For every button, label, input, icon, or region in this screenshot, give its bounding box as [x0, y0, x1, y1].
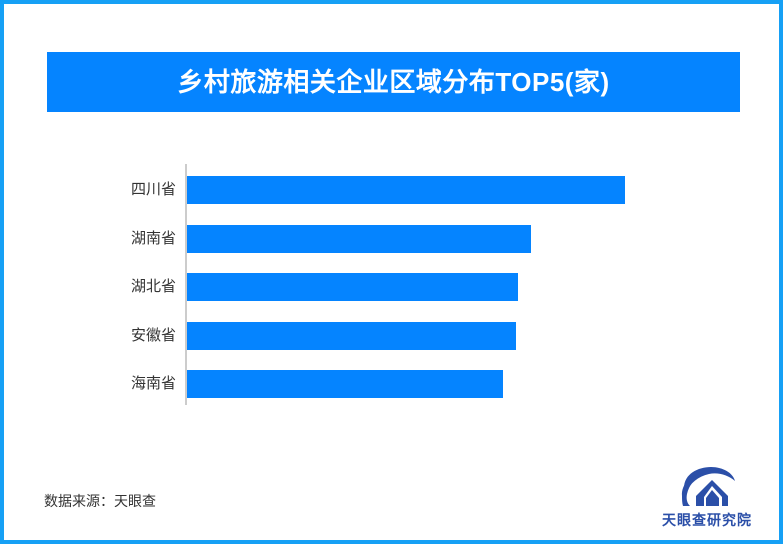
bar-category-label: 湖北省	[44, 273, 176, 301]
bar-category-label: 四川省	[44, 176, 176, 204]
bar-row: 湖北省	[44, 273, 664, 301]
bar-row: 海南省	[44, 370, 664, 398]
brand-logo-label: 天眼查研究院	[652, 510, 762, 530]
data-source-note: 数据来源：天眼查	[44, 491, 156, 511]
bar-rect	[187, 273, 518, 301]
bar-category-label: 海南省	[44, 370, 176, 398]
bar-category-label: 安徽省	[44, 322, 176, 350]
bar-rect	[187, 370, 503, 398]
bar-category-label: 湖南省	[44, 225, 176, 253]
bar-rect	[187, 322, 516, 350]
eye-arch-logo-icon	[678, 466, 736, 508]
bar-rect	[187, 176, 625, 204]
bar-row: 湖南省	[44, 225, 664, 253]
infographic-page: 乡村旅游相关企业区域分布TOP5(家) 四川省湖南省湖北省安徽省海南省 数据来源…	[0, 0, 783, 544]
bar-chart: 四川省湖南省湖北省安徽省海南省	[4, 4, 783, 544]
brand-logo: 天眼查研究院	[652, 466, 762, 532]
bar-row: 四川省	[44, 176, 664, 204]
bar-row: 安徽省	[44, 322, 664, 350]
bar-rect	[187, 225, 531, 253]
